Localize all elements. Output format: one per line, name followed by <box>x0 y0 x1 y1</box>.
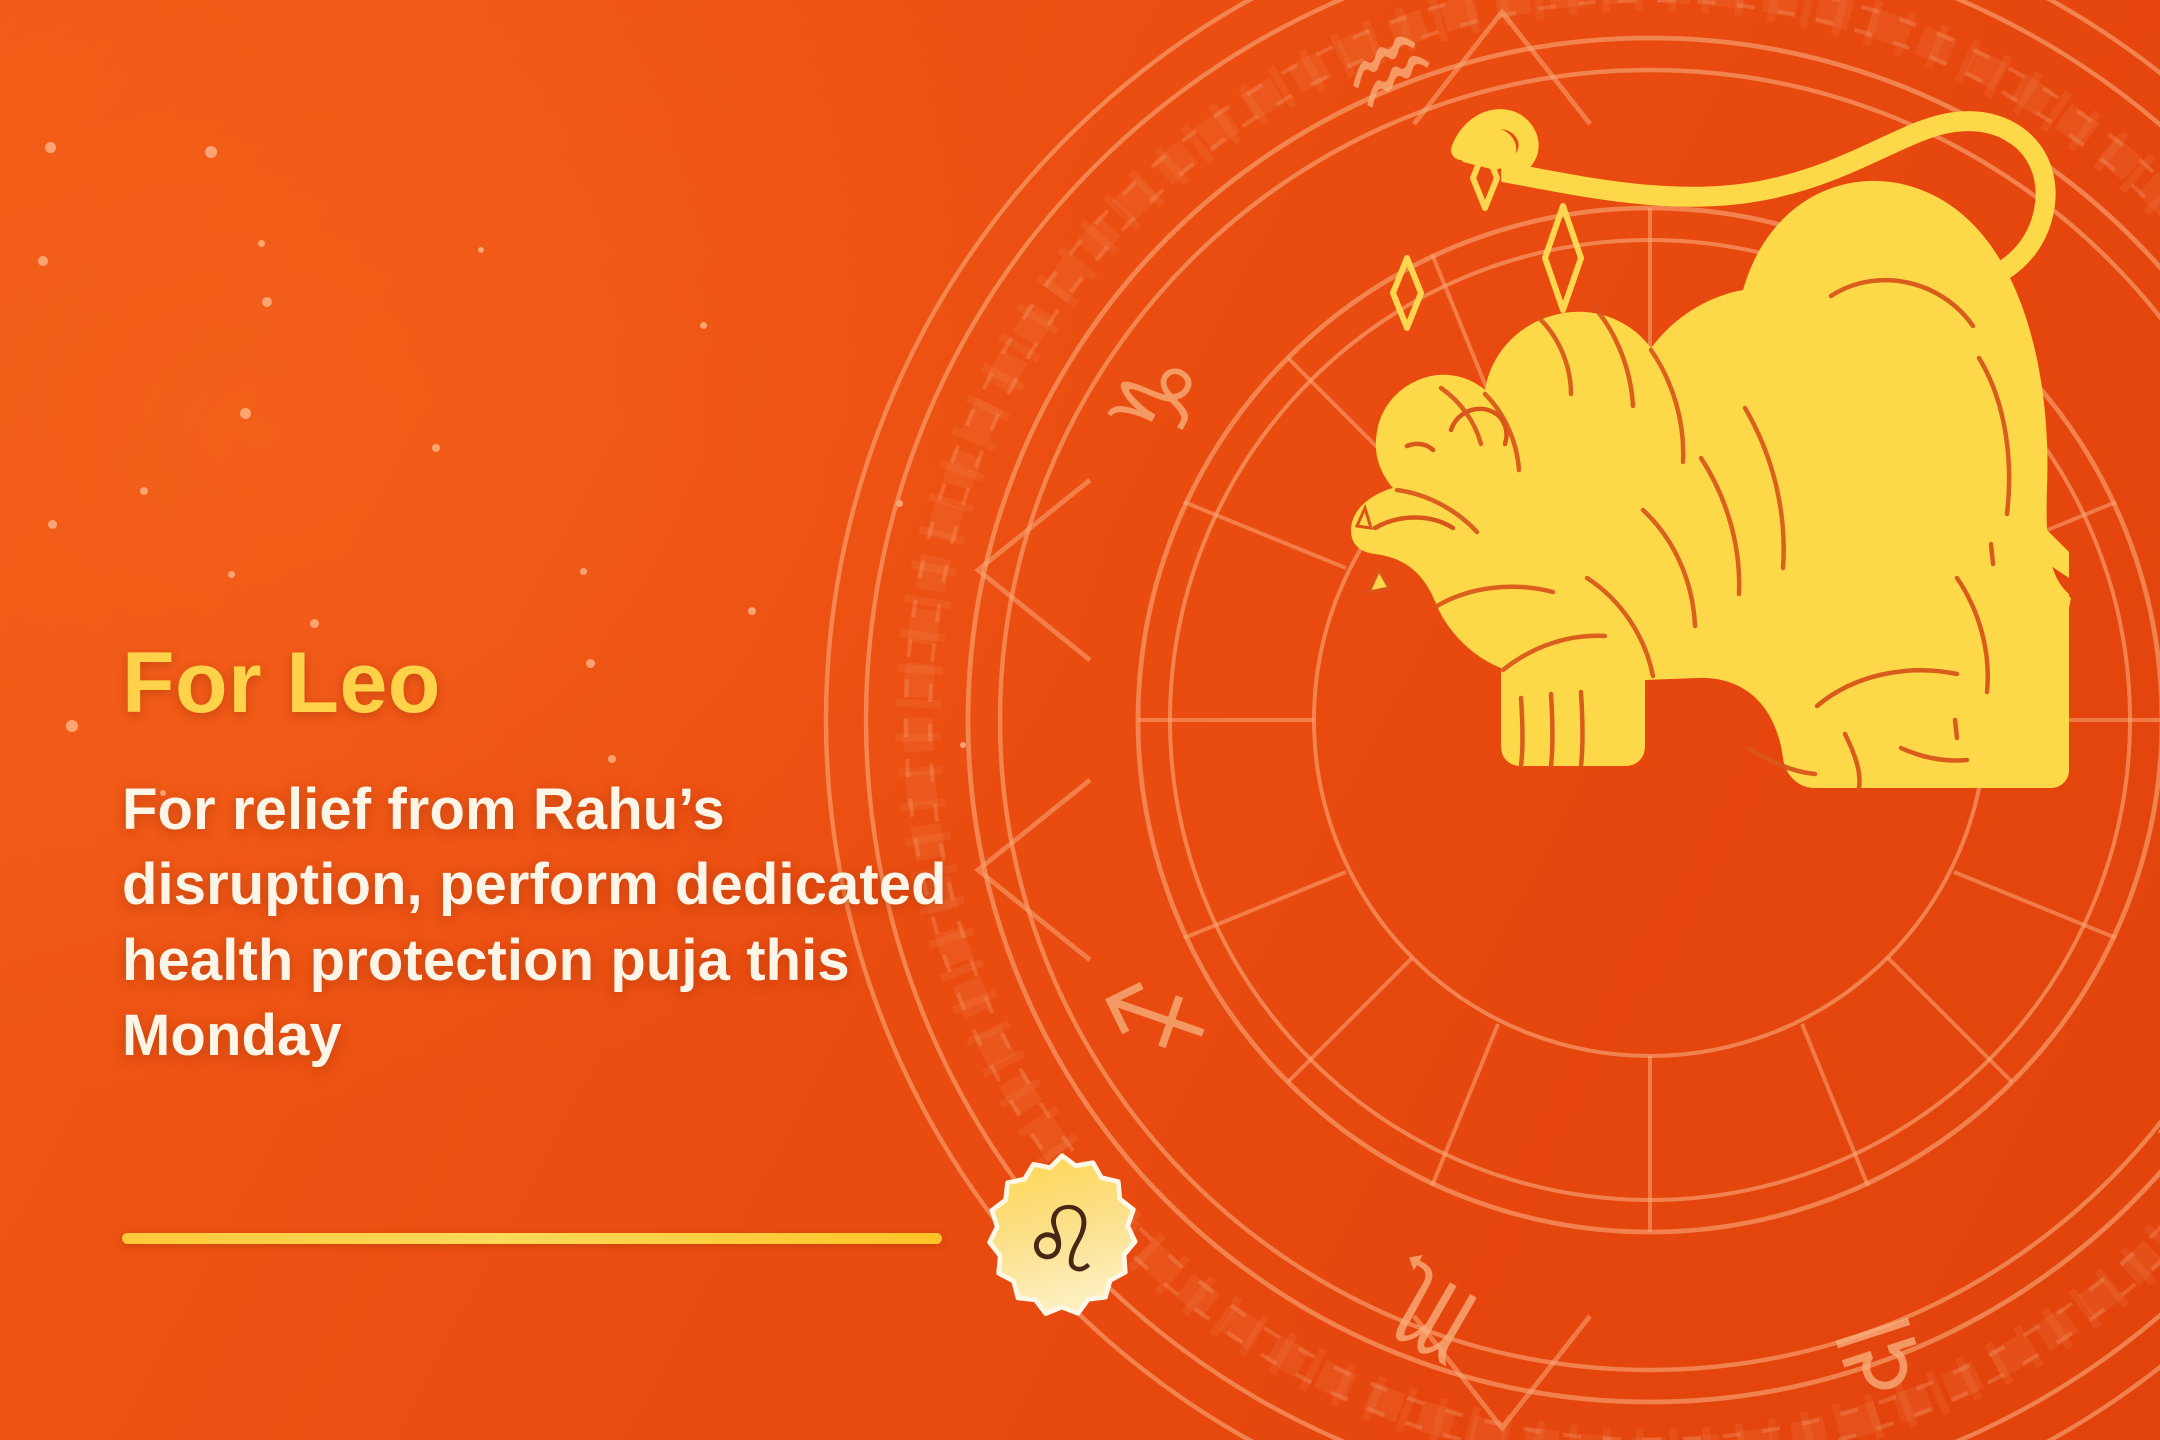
zodiac-glyph-virgo: ♍ <box>2142 1068 2160 1215</box>
leo-lion-illustration <box>1345 58 2085 828</box>
zodiac-glyph-leo: ♌ <box>1021 1187 1103 1294</box>
zodiac-glyph-libra: ♎ <box>1818 1286 1944 1431</box>
zodiac-glyph-capricorn: ♑ <box>1082 329 1233 469</box>
leo-horoscope-card: ♒ ♑ ♐ ♏ ♎ ♍ <box>0 0 2160 1440</box>
divider-rule <box>122 1233 942 1244</box>
zodiac-badge: ♌ <box>967 1150 1157 1340</box>
page-title: For Leo <box>122 640 1122 728</box>
card-body-text: For relief from Rahu’s disruption, perfo… <box>122 772 962 1074</box>
card-footer: ♌ <box>122 1215 1182 1275</box>
lion-body <box>1351 181 2069 788</box>
card-text-content: For Leo For relief from Rahu’s disruptio… <box>122 640 1122 1073</box>
zodiac-glyph-scorpio: ♏ <box>1357 1235 1499 1387</box>
